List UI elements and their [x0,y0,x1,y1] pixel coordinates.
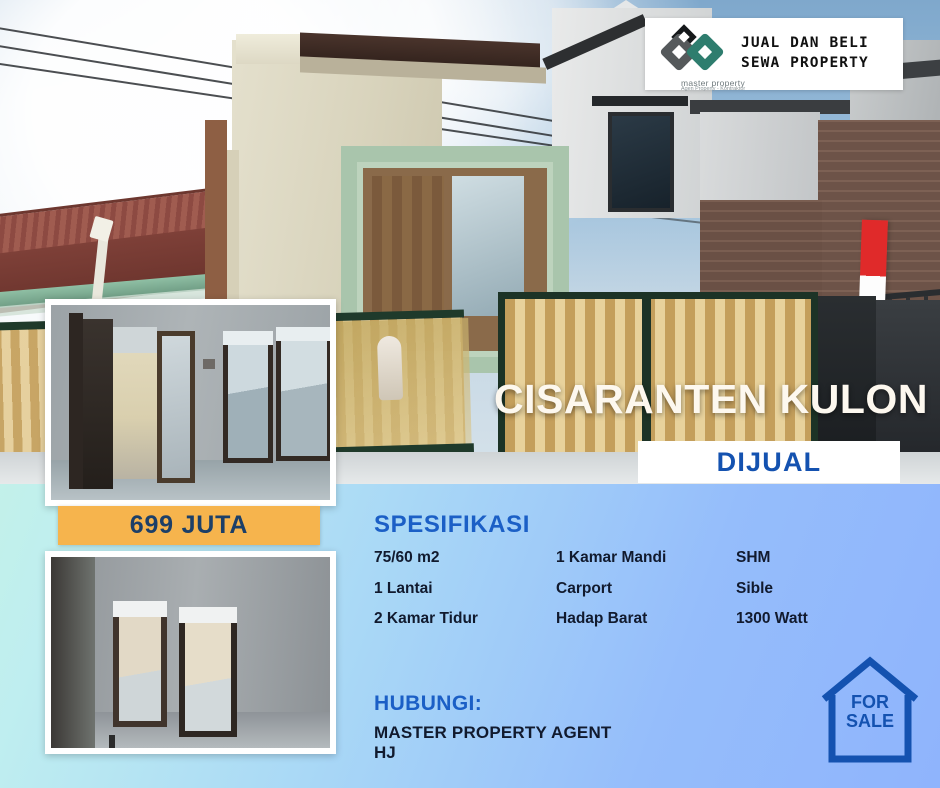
master-property-logo-icon: master property Agen Property - Kontrakt… [655,24,733,84]
spec-item: Sible [736,580,874,599]
window-left [113,601,167,727]
interior-living-room-photo [51,305,330,500]
brand-logo-banner: master property Agen Property - Kontrakt… [645,18,903,90]
spec-item: 2 Kamar Tidur [374,610,556,629]
garden-ornament [377,336,403,401]
window-awning [592,96,688,106]
price-badge: 699 JUTA [58,506,320,545]
contact-heading: HUBUNGI: [374,692,482,716]
interior-photo-card-bottom [45,551,336,754]
window-transom-right [276,327,330,341]
specifications-heading: SPESIFIKASI [374,511,530,539]
window-right [276,327,330,461]
window-transom-left [223,331,273,345]
spec-item: SHM [736,549,874,568]
price-label: 699 JUTA [130,511,249,540]
brand-banner-line1: JUAL DAN BELI [741,34,869,54]
for-sale-line2: SALE [818,712,922,731]
contact-agent-name: MASTER PROPERTY AGENT [374,723,612,743]
spec-item: 75/60 m2 [374,549,556,568]
light-switch [203,359,215,369]
for-sale-badge: FOR SALE [818,655,922,765]
specifications-grid: 75/60 m2 1 Kamar Mandi SHM 1 Lantai Carp… [374,549,874,629]
brand-banner-text: JUAL DAN BELI SEWA PROPERTY [741,34,869,73]
window-transom-right [179,607,237,623]
spec-item: 1300 Watt [736,610,874,629]
status-badge: DIJUAL [638,441,900,483]
for-sale-text: FOR SALE [818,693,922,732]
interior-photo-card-top [45,299,336,506]
doorway-upper-light [113,327,157,353]
window-transom-left [113,601,167,617]
spec-item: 1 Kamar Mandi [556,549,736,568]
window-left [223,331,273,463]
open-door-panel [83,319,113,489]
spec-item: 1 Lantai [374,580,556,599]
logo-tagline: Agen Property - Kontraktor [681,86,733,92]
door-frame [69,313,83,489]
location-headline: CISARANTEN KULON [494,376,928,423]
window-right [179,607,237,737]
property-listing-poster: master property Agen Property - Kontrakt… [0,0,940,788]
for-sale-line1: FOR [818,693,922,712]
interior-empty-room-photo [51,557,330,748]
upper-window [608,112,674,212]
glass-door [157,331,195,483]
spec-item: Carport [556,580,736,599]
side-wall-shadow [51,557,95,748]
spec-item: Hadap Barat [556,610,736,629]
status-badge-label: DIJUAL [717,447,822,478]
contact-agent-initials: HJ [374,743,396,763]
window-handle [109,735,115,748]
brand-banner-line2: SEWA PROPERTY [741,54,869,74]
